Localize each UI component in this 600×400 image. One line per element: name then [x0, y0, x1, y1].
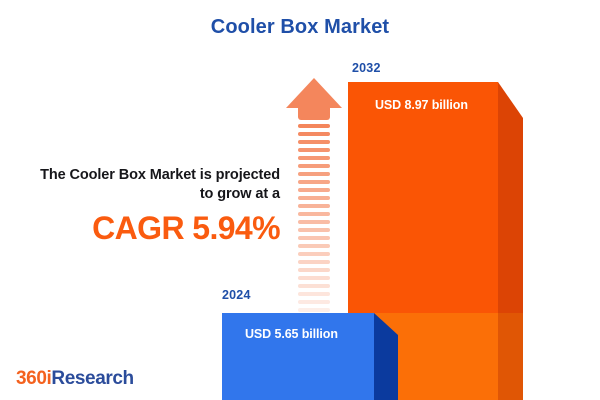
arrow-stripe	[298, 292, 330, 296]
arrow-stripe	[298, 268, 330, 272]
brand-logo: 360iResearch	[16, 368, 134, 390]
arrow-stripe	[298, 236, 330, 240]
arrow-stripe	[298, 140, 330, 144]
arrow-stripe	[298, 244, 330, 248]
arrow-stripe	[298, 156, 330, 160]
infographic-canvas: Cooler Box Market The Cooler Box Market …	[0, 0, 600, 400]
arrow-stripe	[298, 148, 330, 152]
bar-value-label-2024: USD 5.65 billion	[245, 327, 338, 341]
bar-value-label-2032: USD 8.97 billion	[375, 98, 468, 112]
growth-arrow-icon	[286, 78, 342, 290]
arrow-stripe	[298, 132, 330, 136]
arrow-neck-icon	[298, 108, 330, 120]
arrow-stripe	[298, 252, 330, 256]
cagr-callout: The Cooler Box Market is projected to gr…	[18, 166, 280, 246]
arrow-stripe	[298, 276, 330, 280]
arrow-stripe	[298, 284, 330, 288]
arrow-stripe	[298, 204, 330, 208]
arrow-stripe	[298, 308, 330, 312]
arrow-stripe	[298, 260, 330, 264]
arrow-stripe	[298, 228, 330, 232]
arrow-stripe	[298, 164, 330, 168]
arrow-stripe	[298, 180, 330, 184]
arrow-head-icon	[286, 78, 342, 108]
year-label-2024: 2024	[222, 288, 251, 302]
arrow-stripe	[298, 172, 330, 176]
arrow-stripe	[298, 124, 330, 128]
arrow-stripe	[298, 300, 330, 304]
bar-2032-side-lower-shade	[498, 313, 523, 400]
page-title: Cooler Box Market	[0, 16, 600, 39]
brand-logo-part-2: Research	[51, 368, 133, 389]
cagr-lead-line-2: to grow at a	[18, 185, 280, 204]
arrow-stripes-icon	[298, 124, 330, 340]
year-label-2032: 2032	[352, 61, 381, 75]
brand-logo-part-1: 360i	[16, 368, 51, 389]
arrow-stripe	[298, 220, 330, 224]
cagr-lead-line-1: The Cooler Box Market is projected	[18, 166, 280, 185]
arrow-stripe	[298, 212, 330, 216]
arrow-stripe	[298, 196, 330, 200]
cagr-value: CAGR 5.94%	[18, 210, 280, 246]
arrow-stripe	[298, 188, 330, 192]
